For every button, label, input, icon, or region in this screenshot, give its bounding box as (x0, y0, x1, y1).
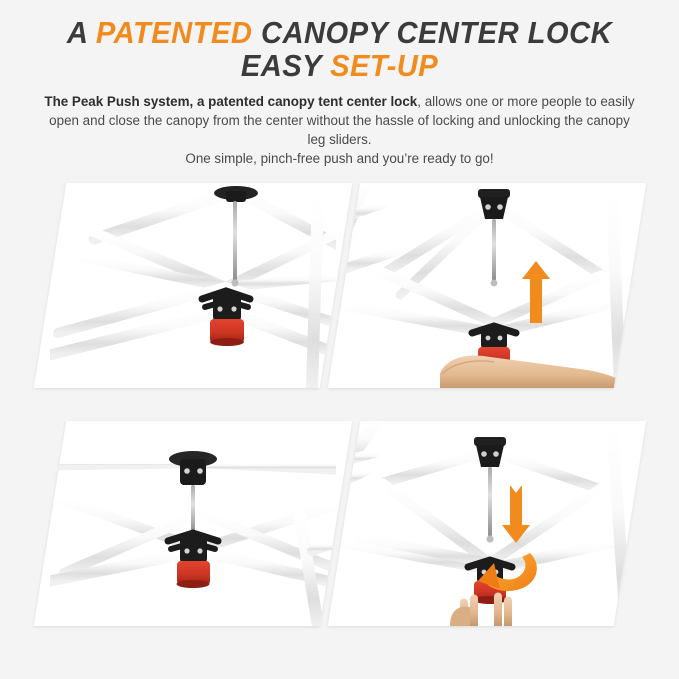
panel-1-frame-illustration (50, 183, 336, 388)
panel-2-hand-pushing-hub-upward (328, 183, 646, 388)
panel-2-frame-illustration (344, 183, 630, 388)
description-block: The Peak Push system, a patented canopy … (40, 92, 640, 168)
panel-3-artwork (50, 421, 336, 626)
panel-2-open-hand (440, 356, 630, 388)
panel-grid (0, 183, 679, 663)
panel-4-hands-releasing-hub-downward (328, 421, 646, 626)
description-closing: One simple, pinch-free push and you’re r… (40, 149, 640, 168)
panel-4-artwork (344, 421, 630, 626)
headline-line-1: A PATENTED CANOPY CENTER LOCK (20, 16, 658, 49)
headline-line-2-part-1: EASY (241, 48, 330, 83)
panel-4-top-fitting (474, 437, 506, 467)
panel-2-rod (492, 219, 496, 281)
panel-3-frame-illustration (50, 421, 336, 626)
panel-1-rod (233, 201, 237, 281)
headline-accent-patented: PATENTED (96, 15, 252, 50)
headline-accent-setup: SET-UP (330, 48, 438, 83)
panel-3-canopy-locked-rod-engaged (34, 421, 352, 626)
headline-line-1-part-1: A (67, 15, 96, 50)
headline-line-2: EASY SET-UP (20, 49, 658, 82)
headline-block: A PATENTED CANOPY CENTER LOCK EASY SET-U… (0, 0, 679, 83)
panel-2-artwork (344, 183, 630, 388)
description-lead: The Peak Push system, a patented canopy … (44, 94, 417, 109)
panel-4-rod (488, 467, 492, 537)
panel-3-rod (191, 485, 195, 533)
panel-1-artwork (50, 183, 336, 388)
headline-line-1-part-2: CANOPY CENTER LOCK (252, 15, 612, 50)
infographic-page: A PATENTED CANOPY CENTER LOCK EASY SET-U… (0, 0, 679, 679)
panel-1-canopy-open-rod-extended (34, 183, 352, 388)
panel-4-frame-illustration (344, 421, 630, 626)
